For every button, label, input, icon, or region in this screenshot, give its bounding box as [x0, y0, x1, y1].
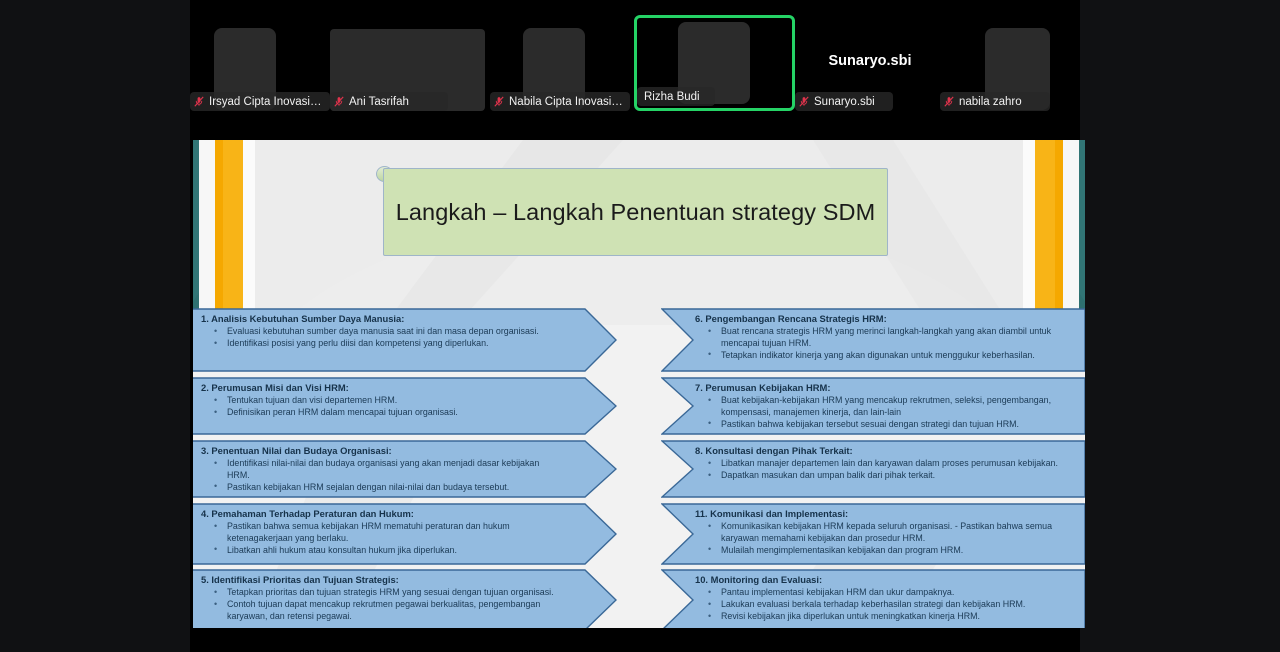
step-heading: 3. Penentuan Nilai dan Budaya Organisasi… [201, 445, 559, 457]
process-step-content: 6. Pengembangan Rencana Strategis HRM: B… [661, 308, 1085, 372]
participant-namebar-sunaryo: Sunaryo.sbi [795, 92, 893, 111]
step-bullets: Tentukan tujuan dan visi departemen HRM.… [201, 395, 559, 419]
step-bullets: Libatkan manajer departemen lain dan kar… [695, 458, 1071, 482]
process-step-left-2: 2. Perumusan Misi dan Visi HRM: Tentukan… [193, 377, 617, 435]
process-step-left-3: 3. Penentuan Nilai dan Budaya Organisasi… [193, 440, 617, 498]
process-diagram: 1. Analisis Kebutuhan Sumber Daya Manusi… [193, 140, 1085, 628]
shared-screen-frame: Langkah – Langkah Penentuan strategy SDM… [190, 112, 1080, 652]
zoom-meeting-window: Irsyad Cipta Inovasi U... Ani Tasrifah [0, 0, 1280, 652]
mic-off-icon [943, 95, 955, 108]
bullet: Pastikan kebijakan HRM sejalan dengan ni… [201, 482, 559, 494]
participant-tile-irsyad[interactable]: Irsyad Cipta Inovasi U... [190, 15, 330, 111]
bullet: Identifikasi nilai-nilai dan budaya orga… [201, 458, 559, 481]
bullet: Lakukan evaluasi berkala terhadap keberh… [695, 599, 1071, 611]
bullet: Tetapkan indikator kinerja yang akan dig… [695, 350, 1071, 362]
process-step-left-1: 1. Analisis Kebutuhan Sumber Daya Manusi… [193, 308, 617, 372]
process-step-right-6: 6. Pengembangan Rencana Strategis HRM: B… [661, 308, 1085, 372]
step-bullets: Pantau implementasi kebijakan HRM dan uk… [695, 587, 1071, 623]
participant-name-nabila-cipta: Nabila Cipta Inovasi ... [509, 96, 624, 108]
participant-name-nabila-zahro: nabila zahro [959, 96, 1022, 108]
mic-off-icon [798, 95, 810, 108]
step-heading: 7. Perumusan Kebijakan HRM: [695, 382, 1071, 394]
participant-name-irsyad: Irsyad Cipta Inovasi U... [209, 96, 324, 108]
bullet: Evaluasi kebutuhan sumber daya manusia s… [201, 326, 559, 338]
process-step-content: 4. Pemahaman Terhadap Peraturan dan Huku… [193, 503, 617, 565]
process-step-right-11: 11. Komunikasi dan Implementasi: Komunik… [661, 503, 1085, 565]
step-heading: 8. Konsultasi dengan Pihak Terkait: [695, 445, 1071, 457]
mic-off-icon [333, 95, 345, 108]
step-bullets: Tetapkan prioritas dan tujuan strategis … [201, 587, 559, 622]
bullet: Tentukan tujuan dan visi departemen HRM. [201, 395, 559, 407]
bullet: Identifikasi posisi yang perlu diisi dan… [201, 338, 559, 350]
participant-tile-sunaryo[interactable]: Sunaryo.sbi Sunaryo.sbi [795, 15, 945, 111]
participant-display-name-sunaryo: Sunaryo.sbi [795, 53, 945, 69]
bullet: Komunikasikan kebijakan HRM kepada selur… [695, 521, 1071, 544]
step-bullets: Komunikasikan kebijakan HRM kepada selur… [695, 521, 1071, 556]
process-step-left-4: 4. Pemahaman Terhadap Peraturan dan Huku… [193, 503, 617, 565]
step-heading: 2. Perumusan Misi dan Visi HRM: [201, 382, 559, 394]
step-heading: 6. Pengembangan Rencana Strategis HRM: [695, 313, 1071, 325]
step-heading: 5. Identifikasi Prioritas dan Tujuan Str… [201, 574, 559, 586]
process-step-right-7: 7. Perumusan Kebijakan HRM: Buat kebijak… [661, 377, 1085, 435]
bullet: Contoh tujuan dapat mencakup rekrutmen p… [201, 599, 559, 622]
bullet: Pantau implementasi kebijakan HRM dan uk… [695, 587, 1071, 599]
bullet: Definisikan peran HRM dalam mencapai tuj… [201, 407, 559, 419]
participant-tile-nabila-zahro[interactable]: nabila zahro [940, 15, 1080, 111]
participant-namebar-ani: Ani Tasrifah [330, 92, 448, 111]
participant-filmstrip: Irsyad Cipta Inovasi U... Ani Tasrifah [0, 0, 1280, 115]
mic-off-icon [193, 95, 205, 108]
process-step-right-10: 10. Monitoring dan Evaluasi: Pantau impl… [661, 569, 1085, 628]
participant-namebar-irsyad: Irsyad Cipta Inovasi U... [190, 92, 330, 111]
step-bullets: Pastikan bahwa semua kebijakan HRM memat… [201, 521, 559, 556]
step-heading: 11. Komunikasi dan Implementasi: [695, 508, 1071, 520]
presentation-slide[interactable]: Langkah – Langkah Penentuan strategy SDM… [193, 140, 1085, 628]
bullet: Mulailah mengimplementasikan kebijakan d… [695, 545, 1071, 557]
step-heading: 10. Monitoring dan Evaluasi: [695, 574, 1071, 586]
step-heading: 4. Pemahaman Terhadap Peraturan dan Huku… [201, 508, 559, 520]
bullet: Libatkan ahli hukum atau konsultan hukum… [201, 545, 559, 557]
bullet: Libatkan manajer departemen lain dan kar… [695, 458, 1071, 470]
process-step-right-8: 8. Konsultasi dengan Pihak Terkait: Liba… [661, 440, 1085, 498]
process-step-content: 3. Penentuan Nilai dan Budaya Organisasi… [193, 440, 617, 498]
participant-tile-ani[interactable]: Ani Tasrifah [330, 15, 485, 111]
process-step-content: 8. Konsultasi dengan Pihak Terkait: Liba… [661, 440, 1085, 498]
bullet: Buat rencana strategis HRM yang merinci … [695, 326, 1071, 349]
bullet: Buat kebijakan-kebijakan HRM yang mencak… [695, 395, 1071, 418]
process-step-content: 10. Monitoring dan Evaluasi: Pantau impl… [661, 569, 1085, 628]
process-step-content: 7. Perumusan Kebijakan HRM: Buat kebijak… [661, 377, 1085, 435]
bullet: Dapatkan masukan dan umpan balik dari pi… [695, 470, 1071, 482]
step-heading: 1. Analisis Kebutuhan Sumber Daya Manusi… [201, 313, 559, 325]
bullet: Tetapkan prioritas dan tujuan strategis … [201, 587, 559, 599]
process-step-left-5: 5. Identifikasi Prioritas dan Tujuan Str… [193, 569, 617, 628]
process-step-content: 1. Analisis Kebutuhan Sumber Daya Manusi… [193, 308, 617, 372]
step-bullets: Identifikasi nilai-nilai dan budaya orga… [201, 458, 559, 493]
bullet: Pastikan bahwa semua kebijakan HRM memat… [201, 521, 559, 544]
step-bullets: Evaluasi kebutuhan sumber daya manusia s… [201, 326, 559, 350]
mic-off-icon [493, 95, 505, 108]
bullet: Revisi kebijakan jika diperlukan untuk m… [695, 611, 1071, 623]
participant-name-sunaryo: Sunaryo.sbi [814, 96, 875, 108]
participant-namebar-rizha: Rizha Budi [637, 87, 715, 106]
participant-namebar-nabila-zahro: nabila zahro [940, 92, 1050, 111]
process-step-content: 2. Perumusan Misi dan Visi HRM: Tentukan… [193, 377, 617, 435]
process-step-content: 5. Identifikasi Prioritas dan Tujuan Str… [193, 569, 617, 628]
participant-namebar-nabila-cipta: Nabila Cipta Inovasi ... [490, 92, 630, 111]
step-bullets: Buat rencana strategis HRM yang merinci … [695, 326, 1071, 361]
step-bullets: Buat kebijakan-kebijakan HRM yang mencak… [695, 395, 1071, 430]
participant-name-ani: Ani Tasrifah [349, 96, 409, 108]
bullet: Pastikan bahwa kebijakan tersebut sesuai… [695, 419, 1071, 431]
participant-name-rizha: Rizha Budi [640, 91, 700, 103]
participant-tile-rizha[interactable]: Rizha Budi [637, 18, 792, 108]
participant-tile-nabila-cipta[interactable]: Nabila Cipta Inovasi ... [490, 15, 635, 111]
process-step-content: 11. Komunikasi dan Implementasi: Komunik… [661, 503, 1085, 565]
